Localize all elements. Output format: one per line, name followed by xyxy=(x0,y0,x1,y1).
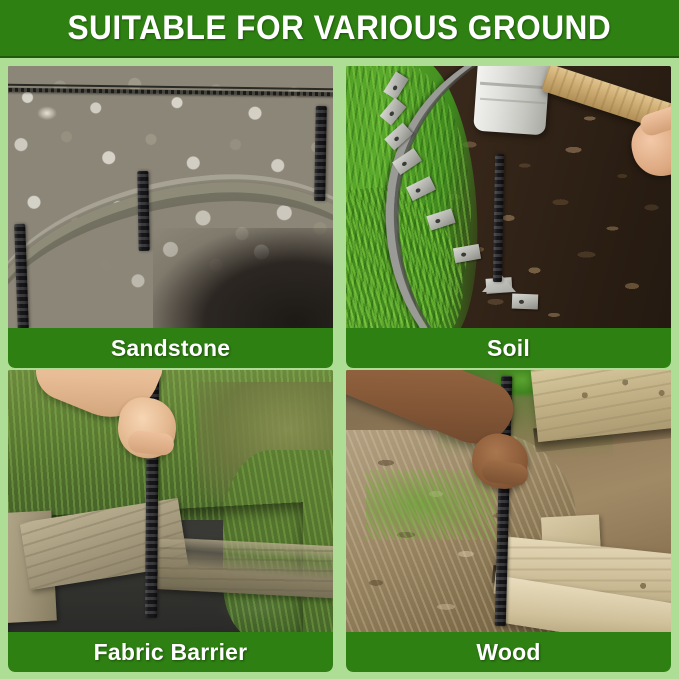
rebar-stake xyxy=(314,106,327,201)
beam-wood-grain xyxy=(157,537,333,599)
panel-soil: Soil xyxy=(346,66,671,368)
caption-label: Soil xyxy=(487,335,530,362)
caption-bar-wood: Wood xyxy=(346,632,671,672)
caption-label: Wood xyxy=(476,639,540,666)
panel-wood: Wood xyxy=(346,370,671,672)
edging-anchor-tab xyxy=(512,294,539,310)
photo-soil xyxy=(346,66,671,328)
panel-fabric-barrier: Fabric Barrier xyxy=(8,370,333,672)
caption-bar-soil: Soil xyxy=(346,328,671,368)
product-feature-graphic: SUITABLE FOR VARIOUS GROUND Sandstone xyxy=(0,0,679,679)
panel-sandstone: Sandstone xyxy=(8,66,333,368)
photo-fabric-barrier xyxy=(8,370,333,632)
panel-grid: Sandstone xyxy=(8,66,671,672)
photo-sandstone xyxy=(8,66,333,328)
rebar-stake xyxy=(137,171,149,251)
caption-label: Sandstone xyxy=(111,335,230,362)
caption-bar-fabric-barrier: Fabric Barrier xyxy=(8,632,333,672)
caption-label: Fabric Barrier xyxy=(94,639,248,666)
photo-wood xyxy=(346,370,671,632)
page-title: SUITABLE FOR VARIOUS GROUND xyxy=(68,9,612,48)
weeds xyxy=(366,470,496,540)
caption-bar-sandstone: Sandstone xyxy=(8,328,333,368)
header-banner: SUITABLE FOR VARIOUS GROUND xyxy=(0,0,679,58)
